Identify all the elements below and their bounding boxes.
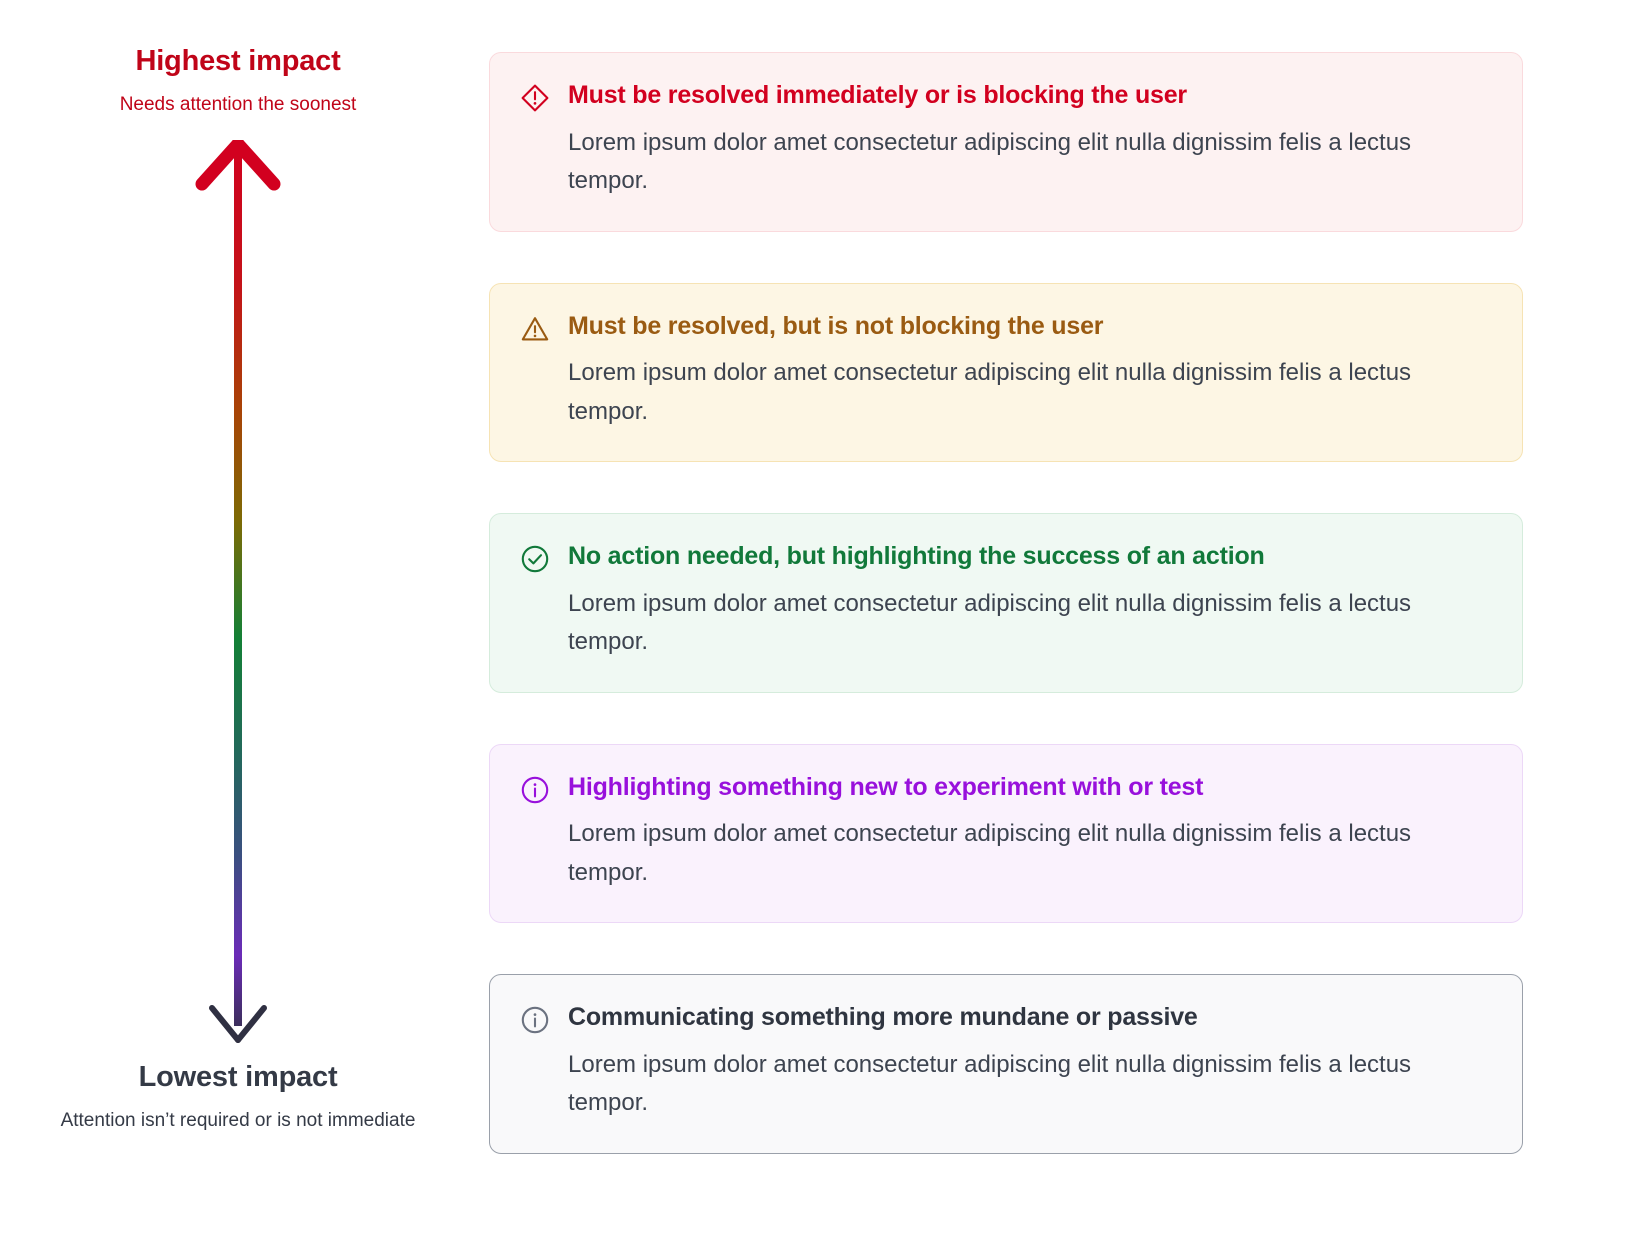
alert-body: Lorem ipsum dolor amet consectetur adipi… [568,124,1468,201]
alert-card-warning: Must be resolved, but is not blocking th… [489,283,1523,463]
alert-body: Lorem ipsum dolor amet consectetur adipi… [568,354,1468,431]
alert-title: Must be resolved immediately or is block… [568,81,1492,110]
lowest-impact-title: Lowest impact [0,1060,476,1095]
axis-top-caption: Highest impact Needs attention the soone… [0,44,476,117]
impact-severity-scale: Highest impact Needs attention the soone… [0,0,1652,1248]
alert-card-info: Highlighting something new to experiment… [489,744,1523,924]
alert-body: Lorem ipsum dolor amet consectetur adipi… [568,585,1468,662]
highest-impact-subtitle: Needs attention the soonest [0,93,476,117]
lowest-impact-subtitle: Attention isn’t required or is not immed… [0,1109,476,1133]
circle-info-icon [520,775,550,805]
alert-title: Must be resolved, but is not blocking th… [568,312,1492,341]
circle-info-icon [520,1005,550,1035]
impact-gradient-arrow [168,140,308,1046]
alert-body: Lorem ipsum dolor amet consectetur adipi… [568,815,1468,892]
impact-axis-column: Highest impact Needs attention the soone… [0,0,476,1248]
diamond-exclamation-icon [520,83,550,113]
alert-title: Communicating something more mundane or … [568,1003,1492,1032]
alert-body: Lorem ipsum dolor amet consectetur adipi… [568,1046,1468,1123]
axis-bottom-caption: Lowest impact Attention isn’t required o… [0,1060,476,1133]
alert-card-critical: Must be resolved immediately or is block… [489,52,1523,232]
alert-title: Highlighting something new to experiment… [568,773,1492,802]
circle-check-icon [520,544,550,574]
highest-impact-title: Highest impact [0,44,476,79]
alert-title: No action needed, but highlighting the s… [568,542,1492,571]
alert-card-list: Must be resolved immediately or is block… [489,52,1523,1154]
alert-card-success: No action needed, but highlighting the s… [489,513,1523,693]
alert-card-neutral: Communicating something more mundane or … [489,974,1523,1154]
triangle-exclamation-icon [520,314,550,344]
